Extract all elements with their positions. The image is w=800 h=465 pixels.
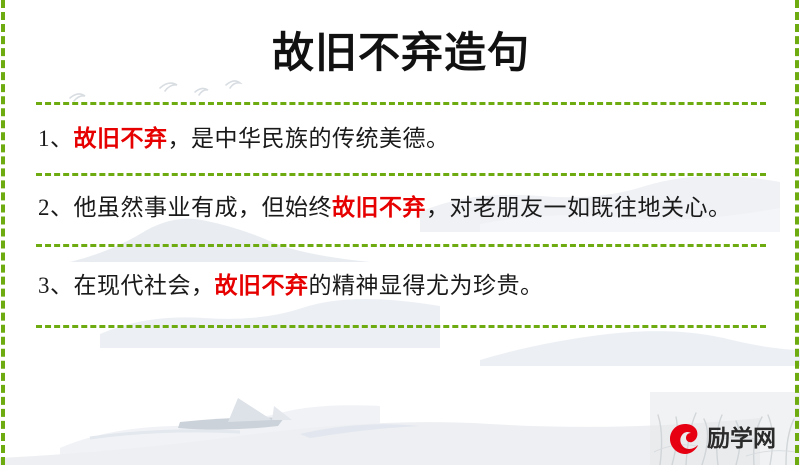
sentence-2-index: 2、 [38, 195, 74, 220]
sentence-3-after: 的精神显得尤为珍贵。 [309, 273, 544, 298]
sentence-3-before: 在现代社会， [74, 273, 215, 298]
sentence-2-after: ，对老朋友一如既往地关心。 [426, 195, 732, 220]
sentence-item-2: 2、他虽然事业有成，但始终故旧不弃，对老朋友一如既往地关心。 [24, 176, 778, 244]
sentence-2-highlight: 故旧不弃 [332, 195, 426, 220]
sentence-1-after: ，是中华民族的传统美德。 [168, 126, 450, 151]
page-title: 故旧不弃造句 [24, 0, 778, 84]
divider-bottom [36, 325, 766, 328]
red-swirl-flame-icon [668, 422, 702, 456]
sentence-1-highlight: 故旧不弃 [74, 126, 168, 151]
sentence-1-index: 1、 [38, 126, 74, 151]
sentence-item-3: 3、在现代社会，故旧不弃的精神显得尤为珍贵。 [24, 247, 778, 325]
sentence-2-before: 他虽然事业有成，但始终 [74, 195, 333, 220]
page-root: 故旧不弃造句 1、故旧不弃，是中华民族的传统美德。 2、他虽然事业有成，但始终故… [0, 0, 800, 465]
sentence-item-1: 1、故旧不弃，是中华民族的传统美德。 [24, 105, 778, 173]
site-logo-text: 励学网 [707, 428, 776, 451]
content-area: 故旧不弃造句 1、故旧不弃，是中华民族的传统美德。 2、他虽然事业有成，但始终故… [0, 0, 800, 465]
border-left-dashed [1, 0, 5, 465]
border-right-dashed [795, 0, 799, 465]
site-logo[interactable]: 励学网 [668, 422, 776, 456]
sentence-3-highlight: 故旧不弃 [215, 273, 309, 298]
sentence-3-index: 3、 [38, 273, 74, 298]
